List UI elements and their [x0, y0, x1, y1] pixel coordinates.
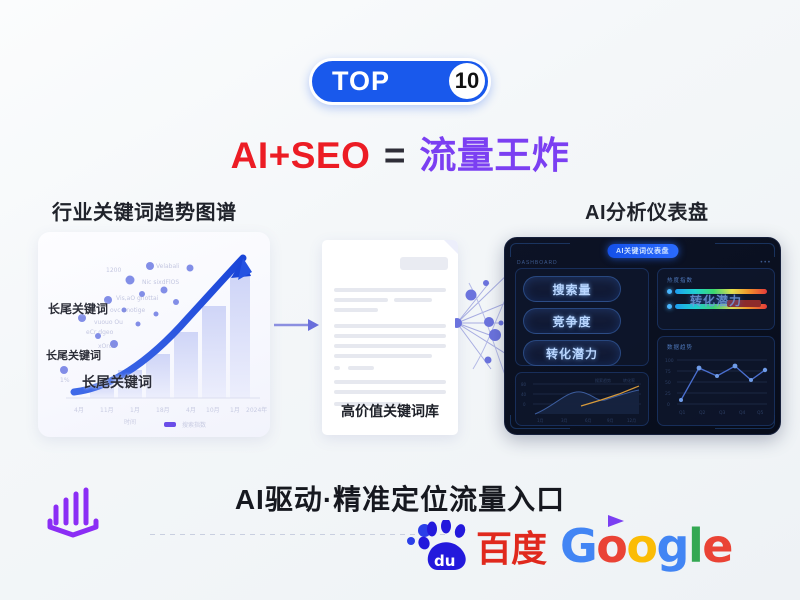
svg-text:ovc unotige: ovc unotige [110, 307, 146, 314]
top-badge-label: TOP [332, 66, 390, 97]
google-letter-g2: g [657, 519, 688, 573]
svg-text:9月: 9月 [607, 418, 614, 423]
svg-text:100: 100 [665, 358, 674, 364]
google-logo: G o o g l e [560, 519, 732, 573]
svg-text:10月: 10月 [206, 407, 220, 414]
decor-dot [407, 537, 415, 545]
svg-text:75: 75 [665, 369, 671, 375]
top-badge-number-circle: 10 [449, 63, 485, 99]
baidu-wordmark: 百度 [476, 520, 546, 572]
dash-frame-corner [510, 243, 570, 257]
svg-text:搜索趋势: 搜索趋势 [595, 377, 611, 383]
doc-text-line [334, 390, 446, 394]
conversion-potential-overlay: 转化潜力 [657, 292, 775, 309]
svg-text:Q5: Q5 [757, 410, 764, 416]
keyword-library-document: 高价值关键词库 [322, 240, 458, 435]
longtail-label-3: 长尾关键词 [82, 372, 152, 392]
longtail-label-1: 长尾关键词 [48, 300, 108, 317]
svg-text:11月: 11月 [100, 407, 114, 414]
svg-text:Vis,aO gnottai: Vis,aO gnottai [116, 295, 159, 302]
left-section-title: 行业关键词趋势图谱 [52, 196, 237, 225]
bottom-divider [150, 534, 450, 535]
kpi-pill-label: 竞争度 [552, 313, 591, 330]
doc-text-line [334, 344, 446, 348]
doc-text-line [334, 298, 388, 302]
bottom-tagline: AI驱动·精准定位流量入口 [0, 478, 800, 518]
doc-header-block [400, 257, 448, 270]
svg-text:40: 40 [521, 392, 527, 397]
page-title: AI+SEO = 流量王炸 [0, 125, 800, 179]
right-section-title: AI分析仪表盘 [585, 196, 709, 225]
doc-card-label: 高价值关键词库 [322, 401, 458, 421]
flow-arrow-right-icon [274, 318, 320, 332]
svg-text:Velabali: Velabali [156, 263, 180, 270]
kpi-pill-search-volume[interactable]: 搜索量 [523, 276, 621, 302]
ai-analysis-dashboard: AI关键词仪表盘 DASHBOARD • • • 搜索量 竞争度 转化潜力 热度… [504, 237, 781, 435]
google-letter-o2: o [626, 519, 656, 573]
svg-text:Q1: Q1 [679, 410, 686, 416]
trend-line-chart: Q1Q2Q3 Q4Q5 10075 50250 [663, 352, 769, 418]
svg-text:6月: 6月 [585, 418, 592, 423]
svg-text:转化率: 转化率 [623, 377, 635, 383]
dashboard-menu-icon[interactable]: • • • [760, 260, 770, 266]
trend-panel-title: 数据趋势 [667, 343, 693, 351]
svg-text:0: 0 [667, 402, 670, 408]
svg-text:1200: 1200 [106, 267, 121, 274]
svg-text:Nic sixdFlOS: Nic sixdFlOS [142, 279, 179, 286]
svg-text:25: 25 [665, 391, 671, 397]
top-rank-badge: TOP 10 [309, 58, 491, 105]
svg-text:时间: 时间 [124, 418, 136, 426]
doc-text-line [334, 324, 446, 328]
keyword-trend-card: 1200Velabali Nic sixdFlOSVis,aO gnottai … [38, 232, 270, 437]
kpi-pill-label: 转化潜力 [546, 345, 598, 362]
svg-text:1月: 1月 [130, 407, 140, 414]
doc-text-line [394, 298, 432, 302]
google-letter-g1: G [560, 519, 596, 573]
headline-left: AI+SEO [231, 135, 371, 176]
google-letter-e: e [702, 519, 732, 573]
svg-text:0: 0 [523, 402, 526, 407]
dash-frame-corner [715, 243, 775, 257]
google-letter-l: l [688, 519, 702, 573]
doc-text-line [348, 366, 374, 370]
top-badge-number: 10 [455, 68, 479, 94]
svg-text:50: 50 [665, 380, 671, 386]
svg-text:1月: 1月 [230, 407, 240, 414]
bar-chart-pedestal-icon [44, 483, 102, 541]
baidu-paw-icon: du [418, 520, 474, 572]
trend-chart-graphic: 1200Velabali Nic sixdFlOSVis,aO gnottai … [38, 232, 270, 437]
svg-text:Q2: Q2 [699, 410, 706, 416]
kpi-pill-conversion-potential[interactable]: 转化潜力 [523, 340, 621, 366]
doc-bullet [334, 366, 340, 370]
doc-text-line [334, 334, 446, 338]
svg-text:Q3: Q3 [719, 410, 726, 416]
longtail-label-2: 长尾关键词 [46, 347, 101, 363]
baidu-logo: du 百度 [418, 520, 546, 572]
headline-equals: = [384, 135, 406, 176]
kpi-pill-competition[interactable]: 竞争度 [523, 308, 621, 334]
dashboard-subtitle: DASHBOARD [517, 260, 558, 266]
svg-text:2024年: 2024年 [246, 406, 267, 414]
headline-right: 流量王炸 [419, 135, 569, 176]
svg-text:Q4: Q4 [739, 410, 746, 416]
svg-text:1月: 1月 [537, 418, 544, 423]
svg-text:4月: 4月 [186, 407, 196, 414]
svg-text:80: 80 [521, 382, 527, 387]
svg-text:4月: 4月 [74, 407, 84, 414]
search-trend-area-chart: 80400 1月3月6月 9月12月 搜索趋势转化率 [519, 376, 645, 424]
doc-text-line [334, 380, 446, 384]
svg-text:搜索指数: 搜索指数 [182, 421, 206, 429]
search-engine-logos: du 百度 G o o g l e [418, 519, 732, 573]
doc-text-line [334, 354, 432, 358]
svg-text:3月: 3月 [561, 418, 568, 423]
kpi-pill-label: 搜索量 [552, 281, 591, 298]
svg-text:vuouo Ou: vuouo Ou [94, 319, 123, 326]
doc-text-line [334, 308, 378, 312]
heat-index-title: 热度指数 [667, 276, 693, 284]
svg-text:12月: 12月 [627, 418, 636, 423]
dashboard-title-badge: AI关键词仪表盘 [607, 244, 678, 258]
baidu-du-text: du [434, 552, 455, 570]
play-arrow-icon [606, 513, 628, 529]
svg-text:18月: 18月 [156, 407, 170, 414]
svg-text:eCr dgeo: eCr dgeo [86, 329, 114, 336]
doc-text-line [334, 288, 446, 292]
svg-text:1%: 1% [60, 377, 70, 384]
doc-folded-corner [444, 240, 458, 254]
